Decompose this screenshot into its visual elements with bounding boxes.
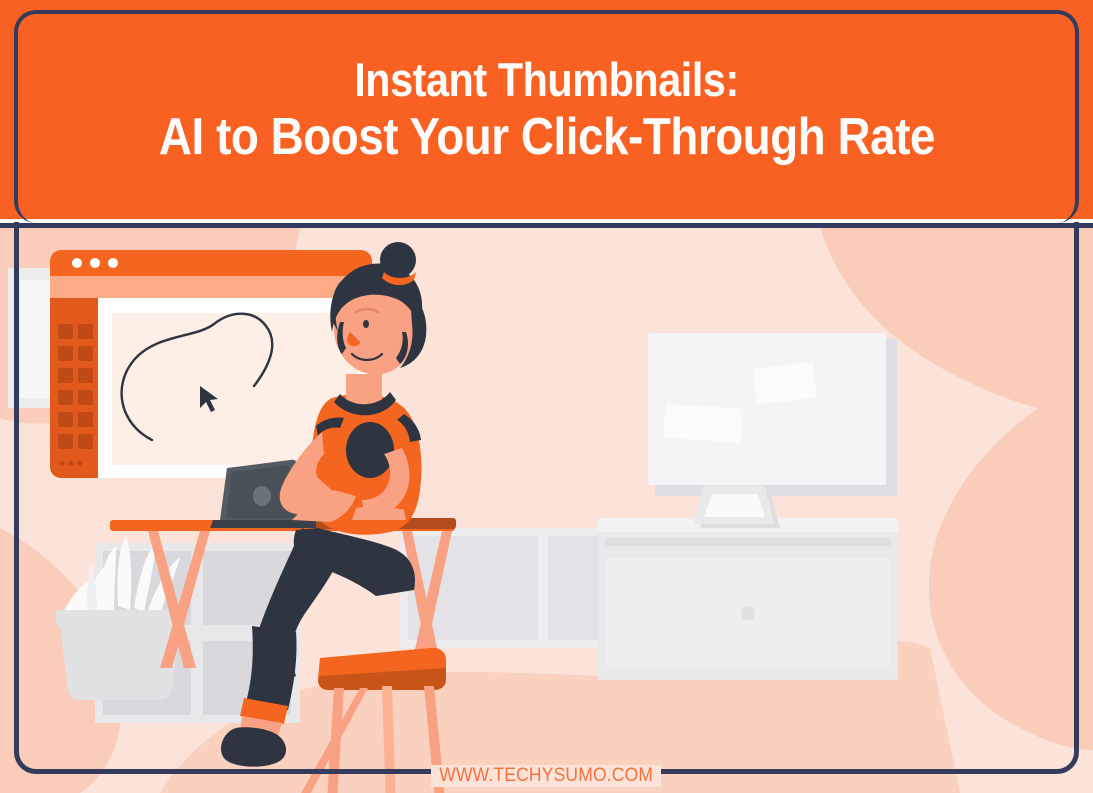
poster-canvas: Instant Thumbnails: AI to Boost Your Cli…: [0, 0, 1093, 793]
illustration-stage: [0, 228, 1093, 793]
window-dot: [90, 258, 100, 268]
header-divider-rule: [0, 219, 1093, 228]
window-dot: [72, 258, 82, 268]
person-eye: [363, 320, 369, 328]
person-shin: [246, 626, 297, 710]
person-hand-near: [352, 507, 406, 520]
sideboard: [598, 518, 898, 680]
whiteboard: [648, 333, 897, 496]
header-title-block: Instant Thumbnails: AI to Boost Your Cli…: [0, 0, 1093, 220]
page-title-line-2: AI to Boost Your Click-Through Rate: [158, 110, 934, 165]
toolbar-more-dots: [59, 460, 82, 465]
picture-frame: [694, 486, 780, 528]
window-subbar: [50, 276, 372, 298]
person-hair-bun: [380, 242, 416, 278]
pot-rim: [56, 610, 184, 626]
sticky-note: [663, 404, 743, 443]
sticky-note: [753, 362, 817, 405]
shirt-graphic: [346, 422, 394, 478]
laptop-logo: [253, 486, 271, 506]
page-title-line-1: Instant Thumbnails:: [354, 55, 739, 104]
laptop-base: [210, 520, 322, 528]
footer-website-url: WWW.TECHYSUMO.COM: [431, 765, 661, 787]
footer-bar: WWW.TECHYSUMO.COM: [0, 758, 1093, 793]
window-dot: [108, 258, 118, 268]
